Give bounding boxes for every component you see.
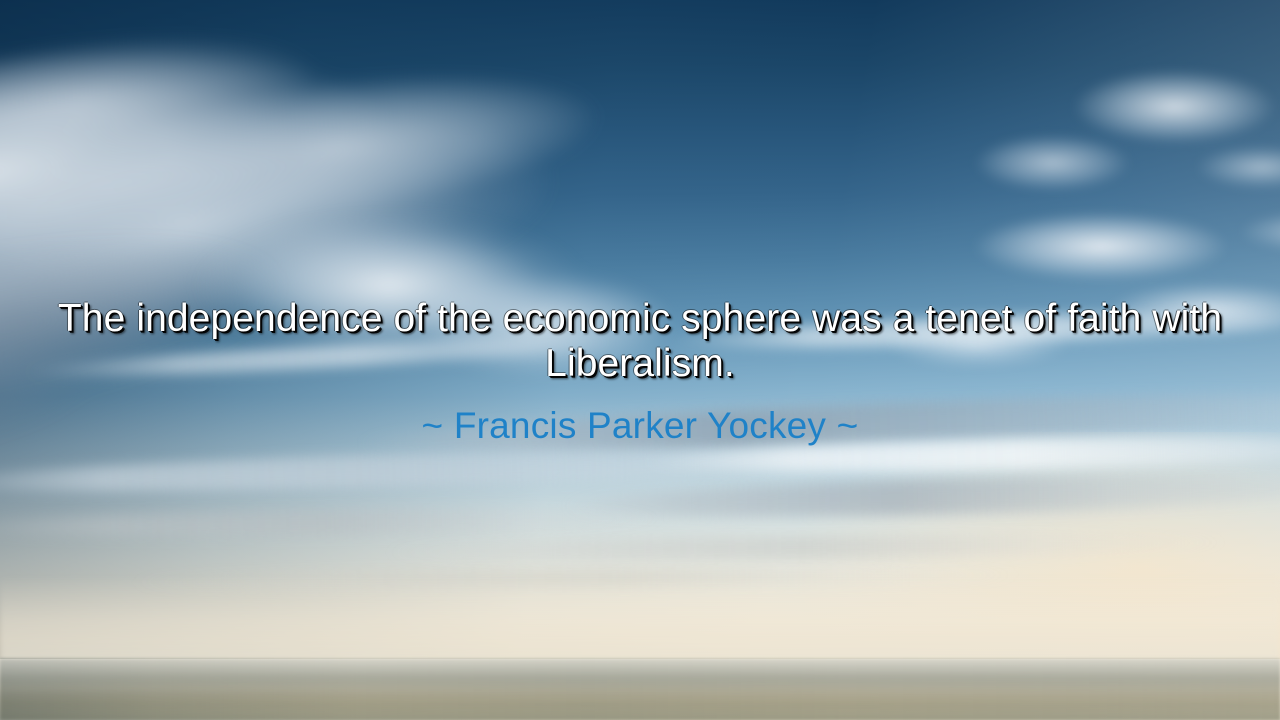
quote-text: The independence of the economic sphere … xyxy=(50,296,1230,386)
text-overlay: The independence of the economic sphere … xyxy=(0,0,1280,720)
quote-image-canvas: The independence of the economic sphere … xyxy=(0,0,1280,720)
quote-block: The independence of the economic sphere … xyxy=(50,296,1230,386)
attribution-text: ~ Francis Parker Yockey ~ xyxy=(50,404,1230,448)
attribution-block: ~ Francis Parker Yockey ~ xyxy=(50,404,1230,448)
